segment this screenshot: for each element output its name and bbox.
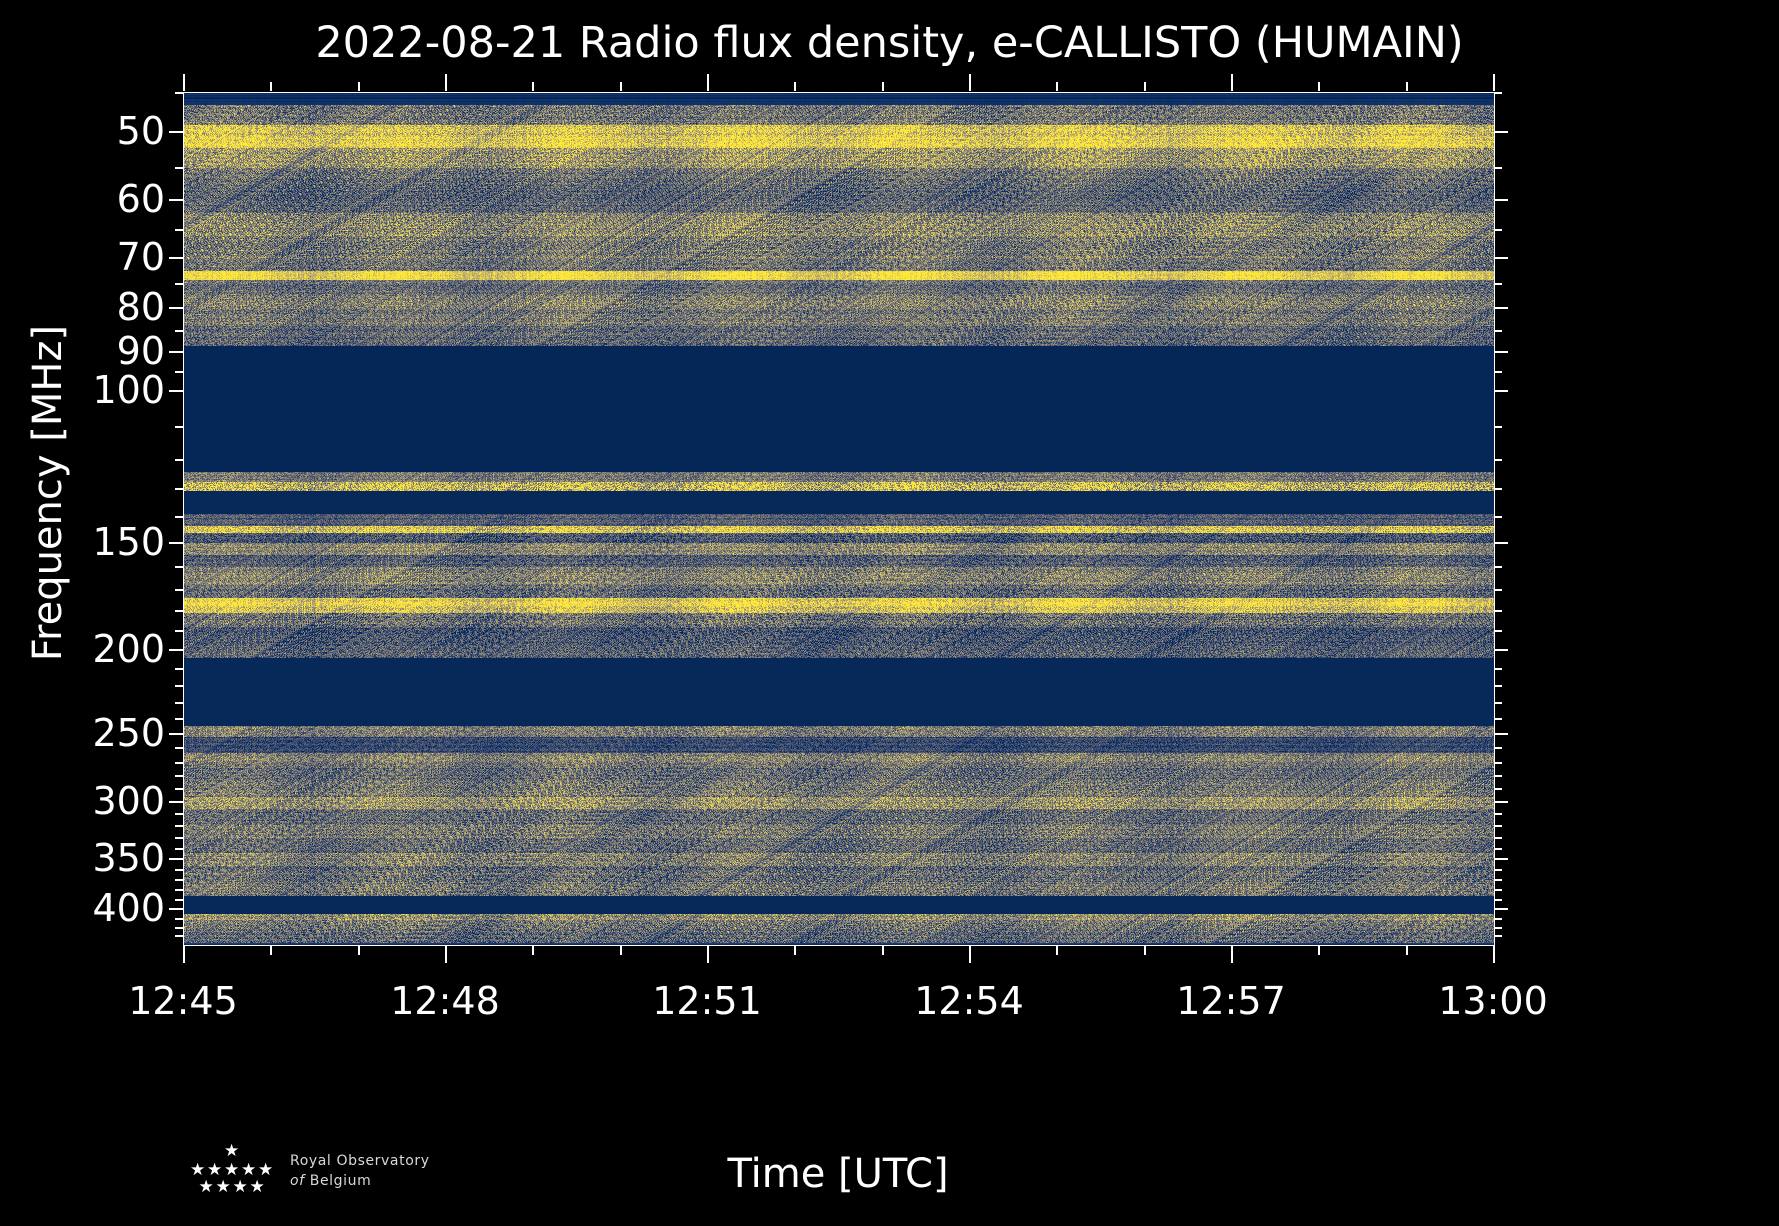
x-tick-2 [358, 946, 360, 955]
y-tick-label-80: 80 [117, 288, 165, 326]
y-tick-right-370 [1494, 879, 1502, 881]
y-tick-label-250: 250 [92, 714, 165, 752]
y-tick-right-250 [1494, 733, 1508, 735]
y-tick-160 [175, 566, 183, 568]
y-tick-80 [169, 307, 183, 309]
x-tick-4 [532, 946, 534, 955]
y-tick-right-45 [1494, 92, 1502, 94]
y-tick-right-50 [1494, 131, 1508, 133]
y-tick-320 [175, 825, 183, 827]
y-tick-right-65 [1494, 229, 1502, 231]
y-tick-right-300 [1494, 801, 1508, 803]
star-icon: ★ [233, 1179, 248, 1196]
y-tick-right-60 [1494, 199, 1508, 201]
y-tick-right-110 [1494, 426, 1502, 428]
x-tick-6 [707, 946, 709, 963]
y-tick-240 [175, 718, 183, 720]
spectrogram-image [184, 93, 1494, 945]
y-tick-360 [175, 869, 183, 871]
y-tick-290 [175, 788, 183, 790]
x-tick-11 [1144, 946, 1146, 955]
y-tick-200 [169, 649, 183, 651]
y-tick-310 [175, 813, 183, 815]
y-tick-right-400 [1494, 908, 1508, 910]
star-icon: ★ [199, 1179, 214, 1196]
y-tick-right-430 [1494, 935, 1502, 937]
y-tick-75 [175, 283, 183, 285]
y-tick-300 [169, 801, 183, 803]
x-tick-top-13 [1318, 82, 1320, 91]
y-tick-390 [175, 899, 183, 901]
y-tick-85 [175, 330, 183, 332]
y-tick-45 [175, 92, 183, 94]
x-tick-top-7 [794, 82, 796, 91]
x-tick-top-8 [882, 82, 884, 91]
y-tick-right-100 [1494, 390, 1508, 392]
x-tick-label-12-57: 12:57 [1176, 982, 1286, 1020]
x-tick-top-2 [358, 82, 360, 91]
y-tick-right-85 [1494, 330, 1502, 332]
spectrogram-plot-area[interactable] [183, 92, 1495, 946]
logo-line-1: Royal Observatory [290, 1151, 430, 1171]
y-tick-right-330 [1494, 837, 1502, 839]
x-tick-label-12-48: 12:48 [390, 982, 500, 1020]
x-tick-top-14 [1406, 82, 1408, 91]
y-tick-130 [175, 488, 183, 490]
y-tick-190 [175, 630, 183, 632]
y-tick-label-50: 50 [117, 112, 165, 150]
x-tick-top-3 [445, 74, 447, 91]
y-tick-380 [175, 889, 183, 891]
y-tick-label-350: 350 [92, 839, 165, 877]
x-tick-top-5 [620, 82, 622, 91]
y-tick-right-130 [1494, 488, 1502, 490]
royal-observatory-logo: ★★★★★★★★★★ Royal Observatory of Belgium [176, 1143, 430, 1199]
x-tick-top-1 [270, 82, 272, 91]
y-tick-100 [169, 390, 183, 392]
y-tick-right-270 [1494, 762, 1502, 764]
page-title: 2022-08-21 Radio flux density, e-CALLIST… [0, 18, 1779, 68]
y-tick-50 [169, 131, 183, 133]
y-tick-right-390 [1494, 899, 1502, 901]
y-tick-270 [175, 762, 183, 764]
y-tick-340 [175, 848, 183, 850]
x-tick-top-4 [532, 82, 534, 91]
y-tick-150 [169, 542, 183, 544]
x-tick-3 [445, 946, 447, 963]
star-icon: ★ [224, 1143, 239, 1160]
x-tick-10 [1056, 946, 1058, 955]
y-tick-right-350 [1494, 858, 1508, 860]
x-tick-top-0 [183, 74, 185, 91]
y-tick-65 [175, 229, 183, 231]
y-tick-right-70 [1494, 257, 1508, 259]
y-tick-right-380 [1494, 889, 1502, 891]
x-tick-13 [1318, 946, 1320, 955]
y-tick-430 [175, 935, 183, 937]
y-tick-label-60: 60 [117, 180, 165, 218]
stars-icon: ★★★★★★★★★★ [176, 1143, 276, 1199]
y-tick-250 [169, 733, 183, 735]
x-tick-9 [969, 946, 971, 963]
y-tick-right-290 [1494, 788, 1502, 790]
y-tick-180 [175, 610, 183, 612]
x-tick-8 [882, 946, 884, 955]
y-tick-right-310 [1494, 813, 1502, 815]
x-tick-top-12 [1231, 74, 1233, 91]
x-tick-top-11 [1144, 82, 1146, 91]
x-tick-0 [183, 946, 185, 963]
x-tick-12 [1231, 946, 1233, 963]
y-tick-170 [175, 589, 183, 591]
y-tick-right-260 [1494, 747, 1502, 749]
x-tick-14 [1406, 946, 1408, 955]
y-tick-right-210 [1494, 668, 1502, 670]
y-tick-right-180 [1494, 610, 1502, 612]
y-tick-70 [169, 257, 183, 259]
y-tick-label-200: 200 [92, 630, 165, 668]
y-axis-label: Frequency [MHz] [25, 183, 71, 803]
y-tick-410 [175, 918, 183, 920]
y-tick-right-75 [1494, 283, 1502, 285]
y-tick-right-410 [1494, 918, 1502, 920]
y-tick-right-190 [1494, 630, 1502, 632]
y-tick-420 [175, 927, 183, 929]
x-tick-top-10 [1056, 82, 1058, 91]
y-tick-60 [169, 199, 183, 201]
x-tick-top-6 [707, 74, 709, 91]
y-tick-140 [175, 516, 183, 518]
x-tick-1 [270, 946, 272, 955]
star-icon: ★ [250, 1179, 265, 1196]
x-tick-top-9 [969, 74, 971, 91]
y-tick-right-150 [1494, 542, 1508, 544]
y-tick-label-300: 300 [92, 782, 165, 820]
y-tick-90 [169, 351, 183, 353]
y-tick-right-220 [1494, 685, 1502, 687]
y-tick-label-70: 70 [117, 238, 165, 276]
x-tick-label-12-54: 12:54 [914, 982, 1024, 1020]
y-tick-right-240 [1494, 718, 1502, 720]
y-tick-right-95 [1494, 371, 1502, 373]
y-tick-right-90 [1494, 351, 1508, 353]
y-tick-label-150: 150 [92, 523, 165, 561]
y-tick-110 [175, 426, 183, 428]
y-tick-400 [169, 908, 183, 910]
y-tick-280 [175, 775, 183, 777]
y-tick-95 [175, 371, 183, 373]
y-tick-right-200 [1494, 649, 1508, 651]
x-tick-7 [794, 946, 796, 955]
y-tick-260 [175, 747, 183, 749]
logo-of-word: of [290, 1173, 305, 1189]
y-tick-right-120 [1494, 459, 1502, 461]
y-tick-right-80 [1494, 307, 1508, 309]
logo-belgium-word: Belgium [310, 1173, 372, 1189]
y-tick-label-400: 400 [92, 889, 165, 927]
logo-line-2: of Belgium [290, 1171, 430, 1191]
x-tick-label-12-45: 12:45 [128, 982, 238, 1020]
y-tick-120 [175, 459, 183, 461]
y-tick-230 [175, 702, 183, 704]
y-tick-label-100: 100 [92, 371, 165, 409]
x-tick-top-15 [1493, 74, 1495, 91]
y-tick-label-90: 90 [117, 332, 165, 370]
y-tick-220 [175, 685, 183, 687]
y-tick-330 [175, 837, 183, 839]
y-tick-right-160 [1494, 566, 1502, 568]
y-tick-right-280 [1494, 775, 1502, 777]
y-tick-right-230 [1494, 702, 1502, 704]
y-tick-right-140 [1494, 516, 1502, 518]
y-tick-right-340 [1494, 848, 1502, 850]
y-tick-210 [175, 668, 183, 670]
y-tick-350 [169, 858, 183, 860]
y-tick-right-420 [1494, 927, 1502, 929]
x-tick-label-12-51: 12:51 [652, 982, 762, 1020]
y-tick-right-55 [1494, 167, 1502, 169]
y-tick-right-170 [1494, 589, 1502, 591]
y-tick-right-360 [1494, 869, 1502, 871]
x-tick-label-13-00: 13:00 [1438, 982, 1548, 1020]
logo-text: Royal Observatory of Belgium [290, 1151, 430, 1192]
y-tick-55 [175, 167, 183, 169]
star-icon: ★ [216, 1179, 231, 1196]
y-tick-370 [175, 879, 183, 881]
y-tick-right-320 [1494, 825, 1502, 827]
x-tick-5 [620, 946, 622, 955]
x-tick-15 [1493, 946, 1495, 963]
